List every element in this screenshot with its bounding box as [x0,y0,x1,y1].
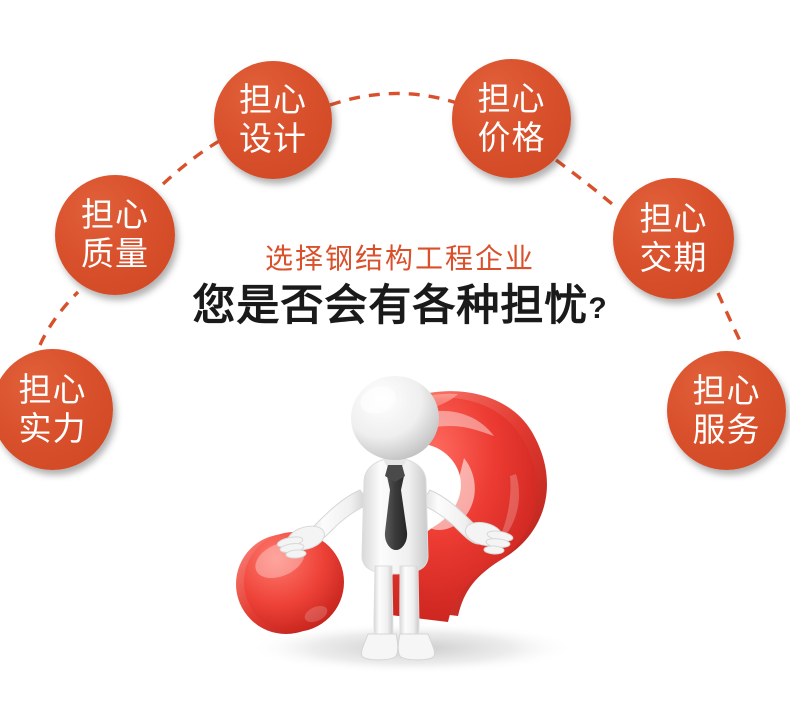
bubble-delivery-line1: 担心 [640,202,708,237]
connector-price-delivery [556,160,618,209]
connector-delivery-service [718,293,742,345]
bubble-price-line1: 担心 [478,82,546,117]
illustration-3d-figure-question-mark [232,362,592,682]
bubble-delivery[interactable]: 担心 交期 [613,178,734,299]
bubble-delivery-line2: 交期 [640,241,708,276]
connector-strength-quality [40,292,78,345]
bubble-strength[interactable]: 担心 实力 [0,349,113,470]
figure-right-shoe [398,634,434,660]
bubble-service[interactable]: 担心 服务 [667,351,786,470]
figure-left-shoe [361,634,397,660]
bubble-service-line1: 担心 [693,374,761,409]
bubble-quality-line1: 担心 [81,198,149,233]
bubble-price[interactable]: 担心 价格 [452,59,571,178]
figure-head [351,376,439,460]
bubble-service-line2: 服务 [693,413,761,448]
bubble-design-line2: 设计 [239,122,307,157]
bubble-strength-line1: 担心 [19,373,87,408]
connector-design-price [330,93,457,105]
banner-canvas: 担心 设计 担心 价格 担心 质量 担心 交期 担心 实力 担心 服务 选择钢结… [0,0,790,714]
figure-left-leg [374,566,393,644]
figure-right-leg [400,566,419,644]
bubble-price-line2: 价格 [478,121,546,156]
headline-block: 选择钢结构工程企业 您是否会有各种担忧? [170,244,630,329]
headline-main-text: 您是否会有各种担忧 [192,282,588,330]
bubble-quality-line2: 质量 [81,237,149,272]
headline-question-mark: ? [588,292,607,325]
bubble-design-line1: 担心 [239,83,307,118]
bubble-design[interactable]: 担心 设计 [214,61,332,179]
headline-subtitle: 选择钢结构工程企业 [170,244,630,275]
bubble-strength-line2: 实力 [19,412,87,447]
headline-main: 您是否会有各种担忧? [170,284,630,329]
bubble-quality[interactable]: 担心 质量 [55,175,175,295]
